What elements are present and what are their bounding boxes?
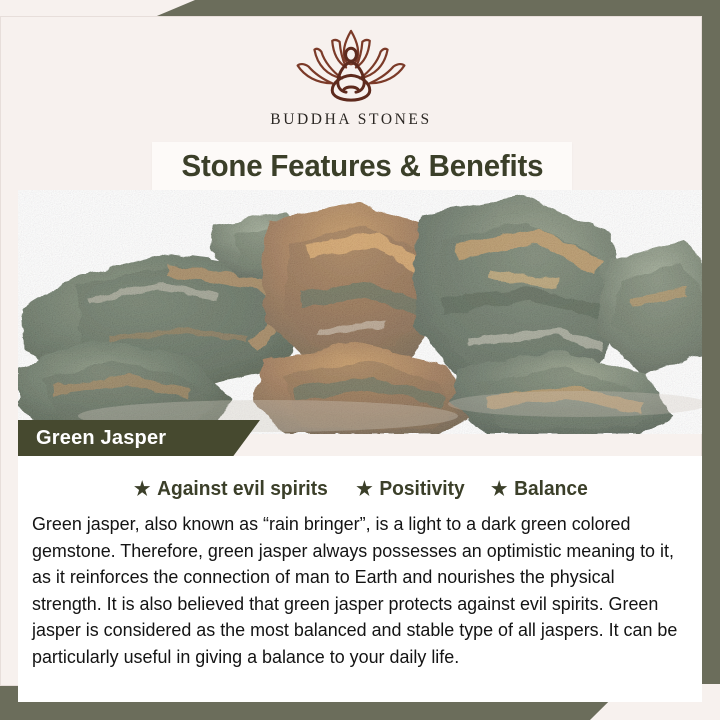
benefit-item-3: ★ Balance [491,478,588,501]
star-icon: ★ [491,480,507,499]
brand-logo: BUDDHA STONES [0,24,702,129]
stone-name-label: Green Jasper [36,427,166,450]
content-card: BUDDHA STONES Stone Features & Benefits [0,16,702,686]
title-plaque: Stone Features & Benefits [152,142,572,190]
stone-description: Green jasper, also known as “rain bringe… [32,511,678,670]
benefit-label-2: Positivity [379,478,464,501]
stone-name-ribbon: Green Jasper [18,420,260,456]
stone-photo-graphic [18,190,702,434]
stone-photo [18,190,702,434]
benefits-row: ★ Against evil spirits ★ Positivity ★ Ba… [18,456,702,501]
infographic-page: BUDDHA STONES Stone Features & Benefits [0,0,720,720]
lotus-meditation-icon [276,24,426,108]
benefit-item-1: ★ Against evil spirits [134,478,328,501]
benefit-item-2: ★ Positivity [356,478,464,501]
benefit-label-3: Balance [514,478,588,501]
star-icon: ★ [356,480,372,499]
page-title: Stone Features & Benefits [181,148,543,184]
description-panel: ★ Against evil spirits ★ Positivity ★ Ba… [18,456,702,702]
star-icon: ★ [134,480,150,499]
brand-wordmark: BUDDHA STONES [270,111,431,129]
benefit-label-1: Against evil spirits [157,478,328,501]
